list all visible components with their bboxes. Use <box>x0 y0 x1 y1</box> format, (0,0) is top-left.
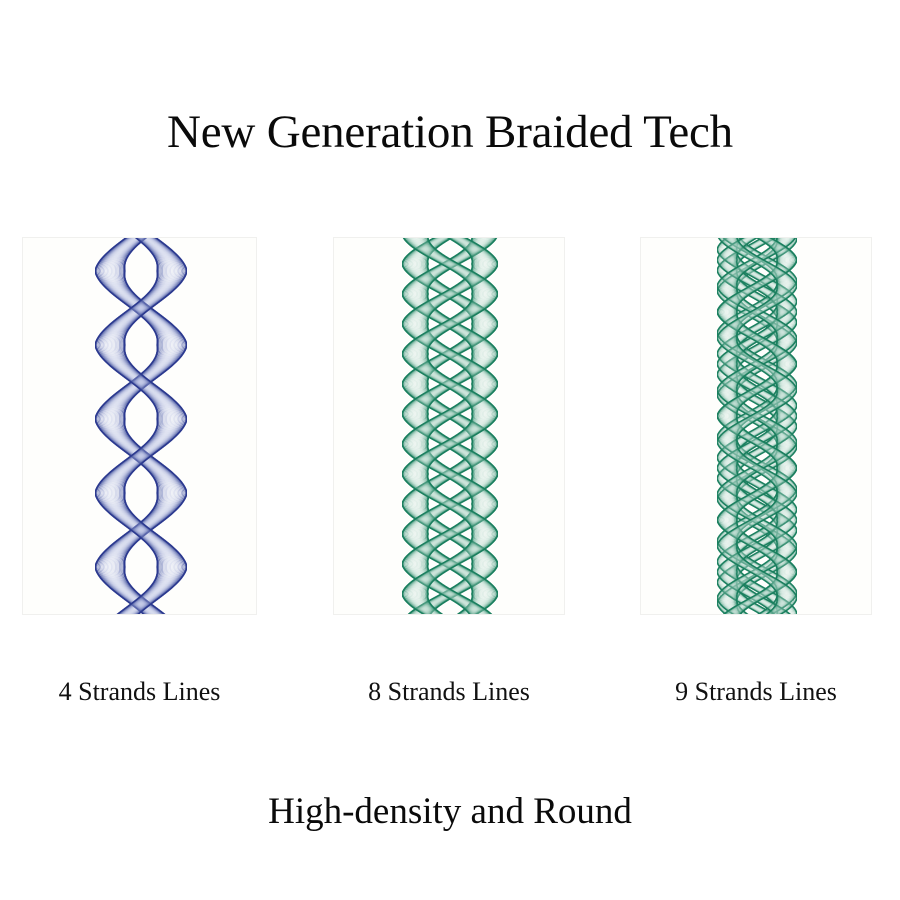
braid-panel-8-strands <box>333 237 565 615</box>
footer-tagline: High-density and Round <box>0 786 900 838</box>
panel-caption-8-strands: 8 Strands Lines <box>333 672 565 712</box>
braid-illustration-9-strands <box>717 237 797 615</box>
panel-caption-4-strands: 4 Strands Lines <box>22 672 257 712</box>
page-root: New Generation Braided Tech 4 Strands Li… <box>0 0 900 900</box>
braid-panel-4-strands <box>22 237 257 615</box>
braid-illustration-8-strands <box>402 237 498 615</box>
braid-illustration-4-strands <box>95 237 187 615</box>
braid-panels-row <box>0 237 900 615</box>
page-title: New Generation Braided Tech <box>0 103 900 161</box>
braid-panel-9-strands <box>640 237 872 615</box>
panel-caption-9-strands: 9 Strands Lines <box>640 672 872 712</box>
